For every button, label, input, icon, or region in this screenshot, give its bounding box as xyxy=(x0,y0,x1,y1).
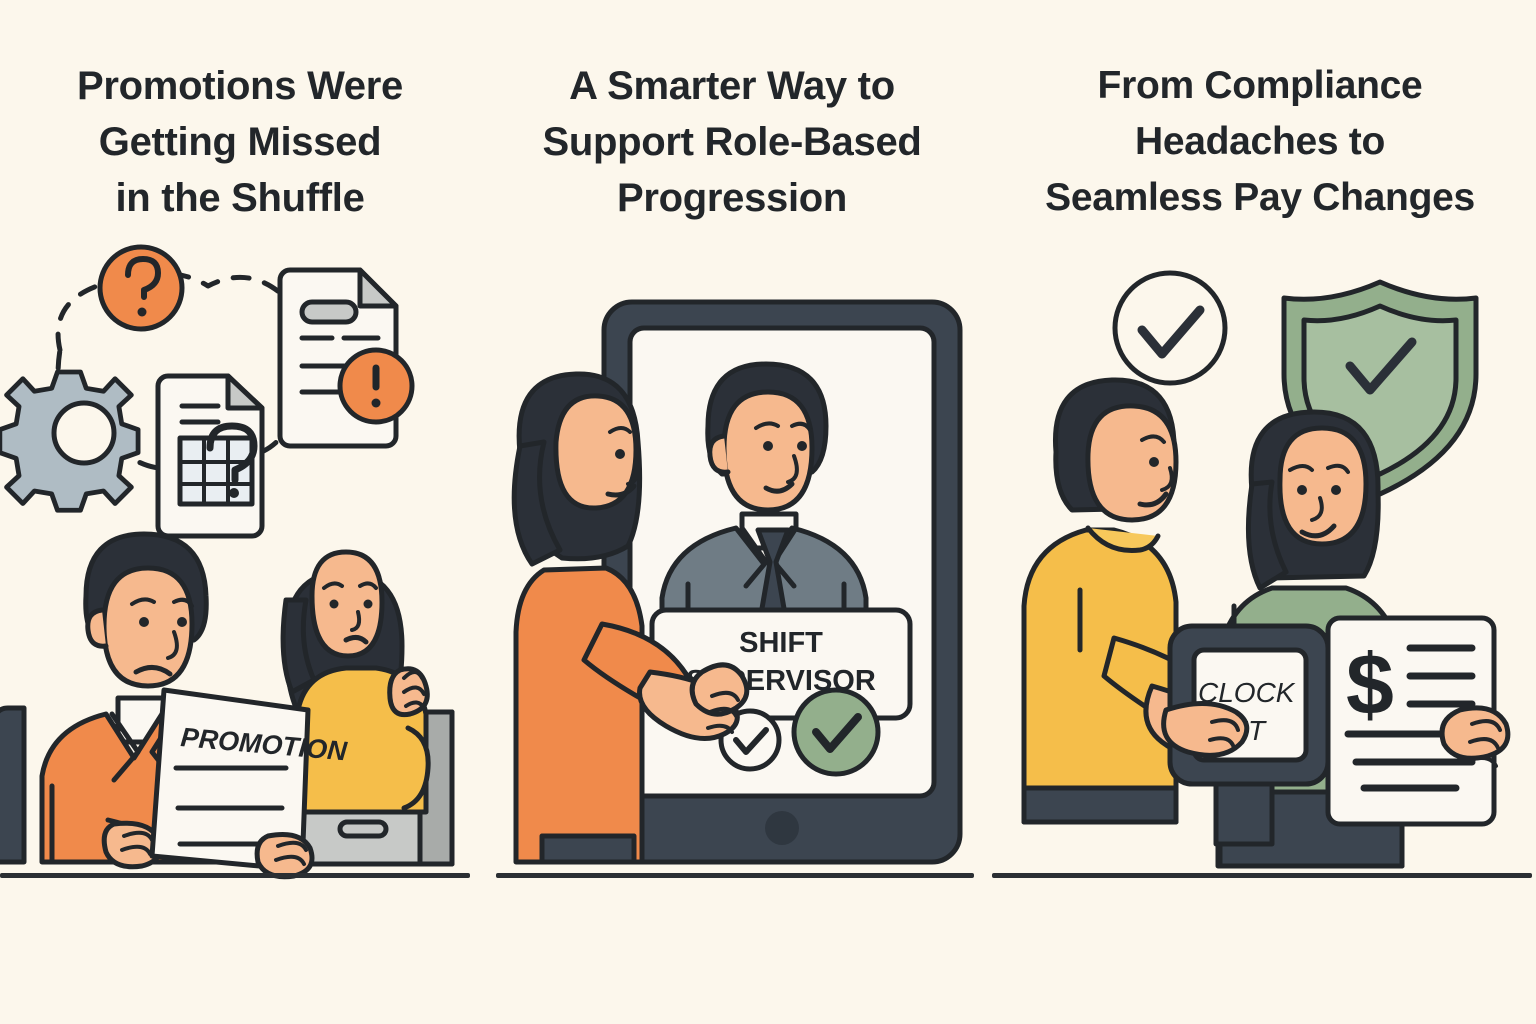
screen-label-line-1: SHIFT xyxy=(739,627,823,659)
panel-2-title-line-3: Progression xyxy=(498,170,966,226)
office-chair xyxy=(0,708,24,862)
dollar-sign-icon: $ xyxy=(1346,637,1394,733)
panel-3-artwork: CLOCK OUT $ xyxy=(984,240,1536,890)
woman-forearm-overlay xyxy=(1164,703,1247,755)
panel-1-title: Promotions Were Getting Missed in the Sh… xyxy=(0,58,480,226)
gear-icon xyxy=(0,372,138,510)
document-alert-icon xyxy=(280,270,412,446)
panel-1-ground-line xyxy=(0,873,470,878)
panel-role-based-progression: A Smarter Way to Support Role-Based Prog… xyxy=(484,0,980,1024)
panel-2-ground-line xyxy=(496,873,974,878)
spreadsheet-icon xyxy=(158,376,262,536)
panel-3-title-line-2: Headaches to xyxy=(988,114,1532,170)
check-circle-outline-icon xyxy=(1115,273,1225,383)
panel-3-title: From Compliance Headaches to Seamless Pa… xyxy=(984,58,1536,226)
question-badge-icon xyxy=(100,247,182,329)
panel-2-title-line-2: Support Role-Based xyxy=(498,114,966,170)
panel-compliance-pay-changes: From Compliance Headaches to Seamless Pa… xyxy=(984,0,1536,1024)
panel-1-title-line-1: Promotions Were xyxy=(14,58,466,114)
panel-3-title-line-3: Seamless Pay Changes xyxy=(988,170,1532,226)
panel-1-title-line-3: in the Shuffle xyxy=(14,170,466,226)
tablet-home-button xyxy=(765,811,799,845)
panel-1-title-line-2: Getting Missed xyxy=(14,114,466,170)
panel-2-title: A Smarter Way to Support Role-Based Prog… xyxy=(484,58,980,226)
panel-1-artwork: PROMOTION xyxy=(0,240,480,890)
panel-2-artwork: SHIFT SUPERVISOR xyxy=(484,240,980,890)
check-circle-filled-icon xyxy=(794,690,878,774)
illustration-canvas: Promotions Were Getting Missed in the Sh… xyxy=(0,0,1536,1024)
panel-3-title-line-1: From Compliance xyxy=(988,58,1532,114)
panel-2-title-line-1: A Smarter Way to xyxy=(498,58,966,114)
panel-promotions-missed: Promotions Were Getting Missed in the Sh… xyxy=(0,0,480,1024)
man-hand-right xyxy=(257,835,312,877)
panel-3-ground-line xyxy=(992,873,1532,878)
